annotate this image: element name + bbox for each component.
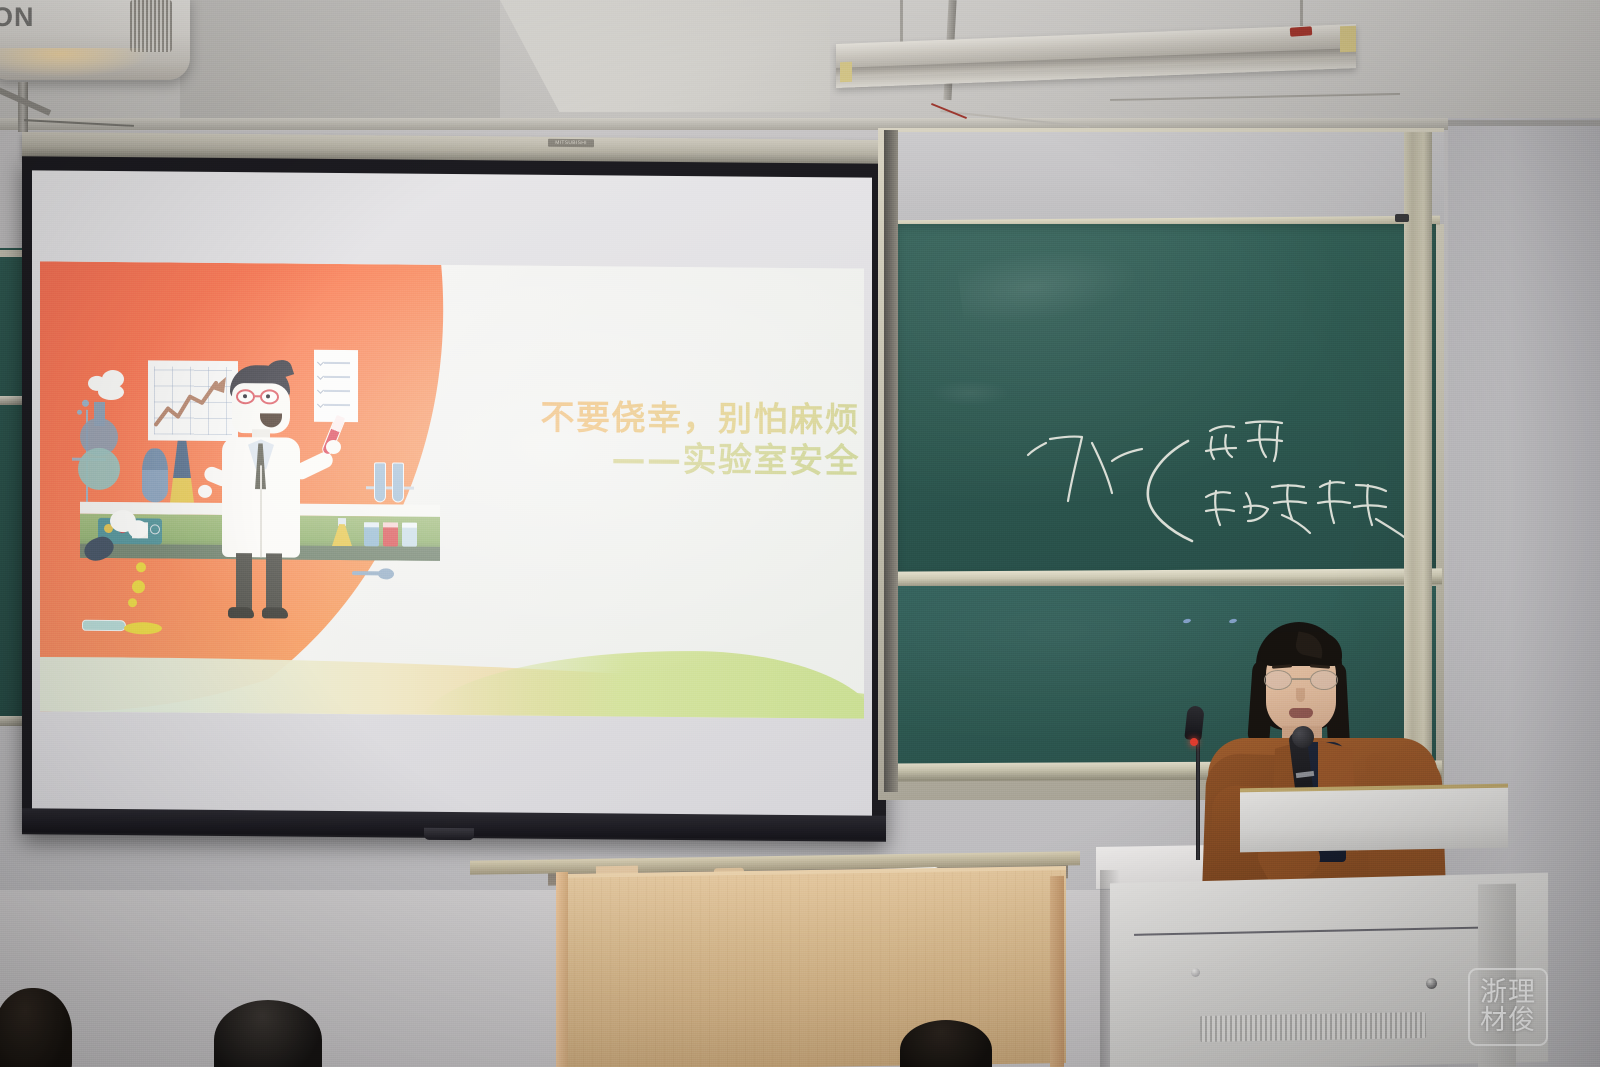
watermark: 浙理 材俊 xyxy=(1468,968,1548,1046)
chemical-spill-pool xyxy=(124,622,162,634)
light-fixture-end-cap xyxy=(1340,26,1356,53)
light-hanger xyxy=(900,0,903,46)
spill-droplet xyxy=(136,562,146,572)
chalkboard-left-post xyxy=(884,130,898,792)
bubble xyxy=(82,400,89,407)
watermark-line-2: 材俊 xyxy=(1480,1007,1536,1035)
steam-puff xyxy=(128,520,148,538)
chalkboard-handwriting xyxy=(1020,415,1420,565)
chalk-smudge xyxy=(930,380,1010,406)
ceiling-panel xyxy=(180,0,500,118)
desk-edge xyxy=(556,872,568,1067)
wood-grain xyxy=(556,870,1066,1067)
wall-above-chalkboard xyxy=(892,132,1444,224)
slide-title-line-1: 不要侥幸，别怕麻烦 xyxy=(440,397,860,442)
podium-lock-screw[interactable] xyxy=(1426,978,1437,989)
lecture-hall-photo: ON MITSUBISHI xyxy=(0,0,1600,1067)
chalkboard-clip xyxy=(1395,214,1409,222)
projector-lamp-glow xyxy=(0,48,150,78)
chalk-tray-middle xyxy=(890,568,1442,587)
projector-brand-label: ON xyxy=(0,2,35,33)
projector-icon: ON xyxy=(0,0,190,80)
bubble xyxy=(77,410,82,415)
slide-title-line-2: ——实验室安全 xyxy=(440,438,860,483)
presenter-figure xyxy=(1178,614,1468,914)
beaker-icon xyxy=(142,448,168,502)
desk-edge xyxy=(1050,876,1064,1067)
conical-flask-icon xyxy=(170,441,194,503)
hotplate-dial xyxy=(150,524,160,534)
spill-droplet xyxy=(132,580,145,593)
reagent-bottles xyxy=(364,522,422,547)
projector-vent-grille xyxy=(130,0,172,52)
screen-brand-badge: MITSUBISHI xyxy=(548,139,594,147)
test-tube-icon xyxy=(392,462,404,502)
spill-droplet xyxy=(128,598,137,607)
podium-vent-grille xyxy=(1200,1012,1426,1042)
eyeglasses-icon xyxy=(1264,670,1340,690)
microphone-status-led xyxy=(1190,738,1198,746)
spatula-icon xyxy=(352,568,394,577)
spilled-test-tube-icon xyxy=(82,620,126,631)
right-wall-trim xyxy=(1448,120,1600,126)
mouth xyxy=(1289,708,1313,718)
round-flask-icon xyxy=(78,448,120,490)
foreground-wooden-desk xyxy=(556,870,1066,1067)
handwriting-strokes xyxy=(1020,415,1420,565)
projection-screen-pull-handle[interactable] xyxy=(424,828,474,840)
laboratory-scientist-illustration xyxy=(80,348,440,681)
scientist-figure xyxy=(208,365,338,626)
red-tag-marker xyxy=(1290,26,1313,37)
light-fixture-end-cap xyxy=(840,62,852,82)
gooseneck-microphone-icon xyxy=(1184,705,1204,741)
slide-title: 不要侥幸，别怕麻烦 ——实验室安全 xyxy=(440,397,860,484)
watermark-line-1: 浙理 xyxy=(1480,979,1536,1007)
presentation-slide: 不要侥幸，别怕麻烦 ——实验室安全 xyxy=(40,261,864,718)
test-tube-icon xyxy=(374,462,386,502)
projector-mount xyxy=(18,82,28,132)
podium-desktop xyxy=(1240,788,1508,853)
smoke-puff xyxy=(98,384,124,400)
podium-lock-screw[interactable] xyxy=(1191,968,1200,977)
